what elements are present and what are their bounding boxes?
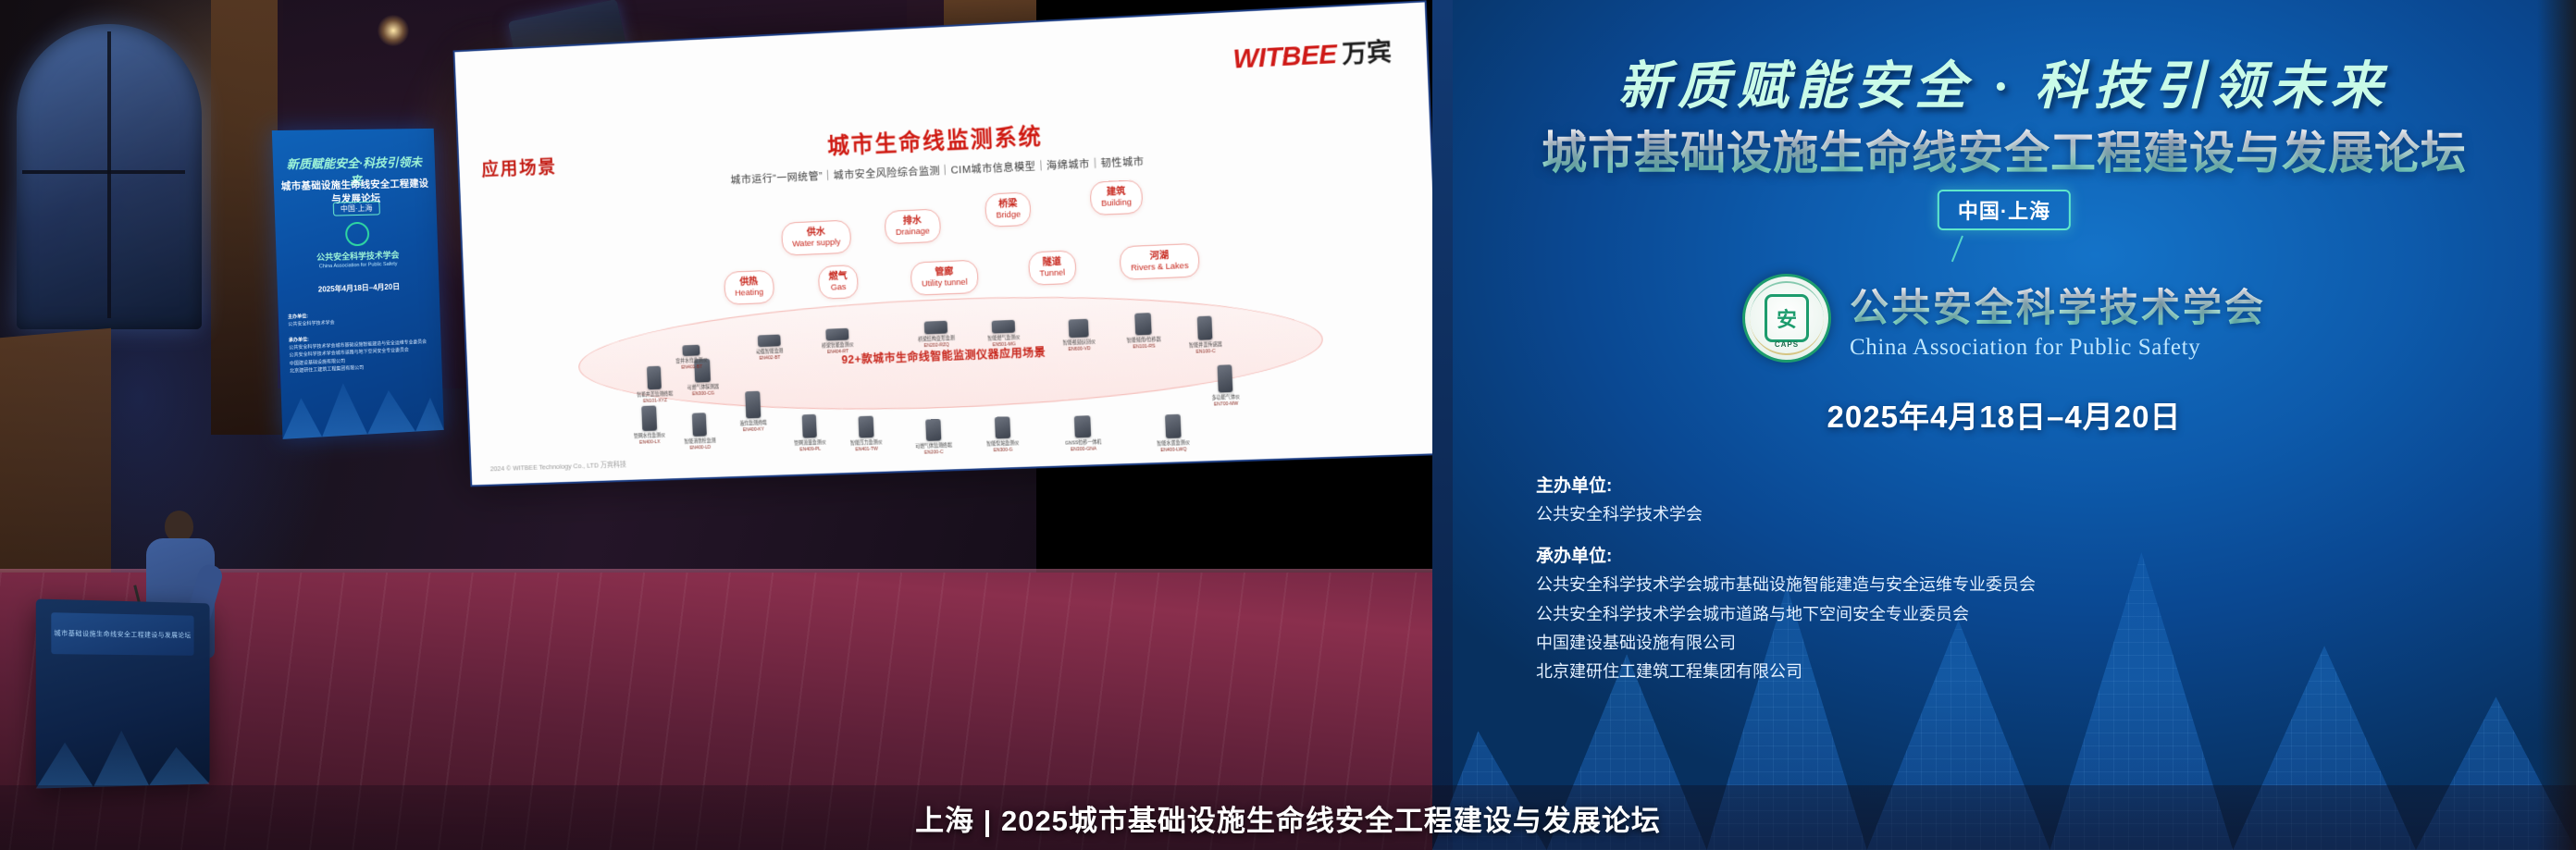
category-bubble-en: Rivers & Lakes — [1131, 261, 1189, 274]
device-icon — [1218, 364, 1233, 392]
device-item: 智能泵站监测仪EN300-G — [974, 416, 1031, 455]
category-bubble-cn: 隧道 — [1039, 256, 1065, 269]
device-item: 管网水位监测仪EN400-LX — [622, 405, 677, 448]
banner-association-row: 安 CAPS 公共安全科学技术学会 China Association for … — [1432, 274, 2576, 363]
device-icon — [1134, 313, 1151, 335]
device-item: 智能倾角/位移器EN101-RS — [1115, 312, 1172, 351]
category-bubble: 桥梁Bridge — [985, 191, 1032, 227]
device-item: 智能视频识别仪EN600-VD — [1050, 318, 1108, 354]
device-item: 液位监测终端EN400-KY — [725, 390, 781, 435]
category-bubble: 建筑Building — [1090, 179, 1144, 216]
slide: WITBEE 万宾 应用场景 城市生命线监测系统 城市运行“一网统管”｜城市安全… — [453, 0, 1446, 487]
category-bubble: 供水Water supply — [781, 220, 851, 256]
category-bubble: 管廊Utility tunnel — [910, 260, 979, 296]
right-edge-shadow — [2537, 0, 2576, 850]
presenter-head — [165, 511, 193, 542]
witbee-logo-cn: 万宾 — [1342, 31, 1393, 69]
device-icon — [692, 413, 707, 437]
podium-nameplate: 城市基础设施生命线安全工程建设与发展论坛 — [51, 612, 193, 656]
device-icon — [1074, 415, 1091, 437]
wall-panel — [211, 0, 283, 435]
conference-photo-scene: 城市基础设施生命线安全工程建设与发展论坛 新质赋能安全·科技引领未来 城市基础设… — [0, 0, 2576, 850]
main-event-banner: 新质赋能安全 · 科技引领未来 城市基础设施生命线安全工程建设与发展论坛 中国·… — [1432, 0, 2576, 850]
witbee-logo: WITBEE 万宾 — [1232, 31, 1393, 75]
device-icon — [925, 419, 941, 441]
banner-association-cn: 公共安全科学技术学会 — [1850, 277, 2266, 333]
mini-banner-location-badge: 中国·上海 — [333, 201, 380, 216]
category-bubble-en: Tunnel — [1039, 268, 1065, 280]
banner-slogan: 新质赋能安全 · 科技引领未来 — [1432, 44, 2576, 119]
arch-window — [17, 24, 202, 329]
category-bubble-cn: 燃气 — [828, 270, 847, 283]
banner-date: 2025年4月18日–4月20日 — [1432, 392, 2576, 437]
projection-screen: WITBEE 万宾 应用场景 城市生命线监测系统 城市运行“一网统管”｜城市安全… — [453, 0, 1446, 494]
coorg-label: 承办单位: — [1536, 542, 2539, 567]
banner-association-text: 公共安全科学技术学会 China Association for Public … — [1850, 277, 2266, 361]
banner-main-title: 城市基础设施生命线安全工程建设与发展论坛 — [1432, 117, 2576, 182]
category-bubble-en: Utility tunnel — [922, 277, 968, 290]
device-item: 多功能气体仪EN700-MW — [1196, 363, 1255, 409]
emblem-initials: CAPS — [1775, 340, 1799, 349]
category-bubble-en: Drainage — [896, 227, 930, 239]
category-bubble-en: Heating — [735, 288, 763, 300]
device-item: 智能井盖传感器EN100-C — [1176, 315, 1233, 357]
mini-coorg-label: 承办单位: — [289, 337, 309, 343]
device-icon — [825, 328, 848, 341]
banner-badge-pointer — [1951, 236, 1963, 263]
podium-skyline-graphic — [36, 707, 210, 789]
podium-nameplate-text: 城市基础设施生命线安全工程建设与发展论坛 — [54, 629, 191, 641]
host-item: 公共安全科学技术学会 — [1536, 503, 2539, 525]
device-item: 动载智能监测EN402-BT — [742, 334, 798, 363]
witbee-logo-en: WITBEE — [1232, 39, 1337, 75]
caption-bar: 上海 | 2025城市基础设施生命线安全工程建设与发展论坛 — [0, 785, 2576, 850]
device-model: EN401-TW — [839, 446, 894, 454]
device-model: EN400-LD — [674, 444, 727, 452]
stage-backdrop-banner: 新质赋能安全·科技引领未来 城市基础设施生命线安全工程建设与发展论坛 中国·上海… — [272, 129, 444, 439]
coorg-item: 北京建研住工建筑工程集团有限公司 — [1536, 660, 2539, 683]
device-item: GNSS位移一体机EN300-GNA — [1055, 414, 1112, 453]
mini-host-item: 公共安全科学技术学会 — [288, 320, 335, 327]
coorg-item: 公共安全科学技术学会城市道路与地下空间安全专业委员会 — [1536, 603, 2539, 625]
banner-organizers: 主办单位: 公共安全科学技术学会 承办单位: 公共安全科学技术学会城市基础设施智… — [1536, 472, 2539, 683]
device-item: 桥梁智能监测仪EN404-RT — [810, 327, 865, 357]
device-item: 窨井水位监测仪EN401-BT — [664, 344, 719, 372]
device-item: 智能燃气监测仪EN501-MG — [975, 319, 1032, 350]
device-item: 桥梁结构变形监测EN202-RZQ — [909, 320, 965, 351]
device-item: 智能压力监测仪EN401-TW — [838, 415, 895, 454]
coorg-item: 中国建设基础设施有限公司 — [1536, 632, 2539, 654]
device-icon — [802, 414, 817, 438]
host-label: 主办单位: — [1536, 472, 2539, 497]
device-model: EN700-MW — [1198, 400, 1255, 409]
caps-emblem-icon: 安 CAPS — [1742, 274, 1831, 363]
slide-footer: 2024 © WITBEE Technology Co., LTD 万宾科技 — [490, 460, 626, 474]
mini-banner-date: 2025年4月18日–4月20日 — [281, 280, 436, 296]
device-item: 可燃气体监测终端EN200-C — [905, 418, 961, 457]
device-model: EN400-KY — [726, 426, 781, 435]
caption-text: 上海 | 2025城市基础设施生命线安全工程建设与发展论坛 — [915, 797, 1661, 839]
banner-location-badge: 中国·上海 — [1938, 190, 2071, 230]
device-icon — [758, 335, 781, 348]
category-bubble: 供热Heating — [724, 270, 774, 305]
device-model: EN300-GNA — [1056, 446, 1111, 454]
device-icon — [994, 416, 1009, 438]
device-model: EN400-LWQ — [1146, 447, 1202, 455]
mini-coorg-item: 中国建设基础设施有限公司 — [290, 358, 345, 366]
category-bubble-en: Building — [1101, 198, 1132, 210]
device-icon — [1197, 315, 1213, 339]
device-icon — [1069, 319, 1089, 339]
mini-banner-emblem-icon — [345, 222, 370, 247]
device-model: EN300-G — [975, 447, 1031, 455]
category-bubble-en: Bridge — [996, 210, 1021, 222]
device-icon — [924, 321, 947, 335]
device-item: 管网流量监测仪EN409-PL — [782, 413, 837, 454]
category-bubble: 河湖Rivers & Lakes — [1120, 243, 1200, 280]
mini-coorg-item: 北京建研住工建筑工程集团有限公司 — [290, 365, 364, 375]
device-model: EN409-PL — [783, 446, 837, 454]
device-model: EN400-LX — [623, 439, 676, 448]
category-bubble-en: Gas — [829, 282, 848, 293]
device-icon — [1165, 414, 1182, 438]
podium: 城市基础设施生命线安全工程建设与发展论坛 — [36, 598, 210, 788]
device-icon — [858, 416, 873, 438]
category-bubble: 隧道Tunnel — [1028, 250, 1076, 285]
device-icon — [641, 405, 657, 431]
coorg-item: 公共安全科学技术学会城市基础设施智能建造与安全运维专业委员会 — [1536, 573, 2539, 596]
device-item: 智能消防栓监测EN400-LD — [672, 412, 727, 452]
device-icon — [745, 391, 761, 419]
device-icon — [682, 345, 700, 356]
category-bubble-en: Water supply — [792, 238, 841, 251]
spotlight — [378, 15, 409, 46]
mini-host-label: 主办单位: — [288, 314, 308, 320]
device-icon — [992, 320, 1016, 334]
category-bubble-cn: 桥梁 — [996, 198, 1021, 211]
category-bubble: 燃气Gas — [818, 265, 859, 300]
mini-banner-organizers: 主办单位: 公共安全科学技术学会 承办单位: 公共安全科学技术学会城市基础设施智… — [288, 308, 435, 376]
device-item: 智能水质监测仪EN400-LWQ — [1145, 413, 1202, 455]
category-bubble-cn: 供热 — [735, 276, 763, 289]
banner-association-en: China Association for Public Safety — [1850, 335, 2266, 361]
device-icon — [647, 366, 662, 390]
category-bubble: 排水Drainage — [885, 208, 941, 244]
